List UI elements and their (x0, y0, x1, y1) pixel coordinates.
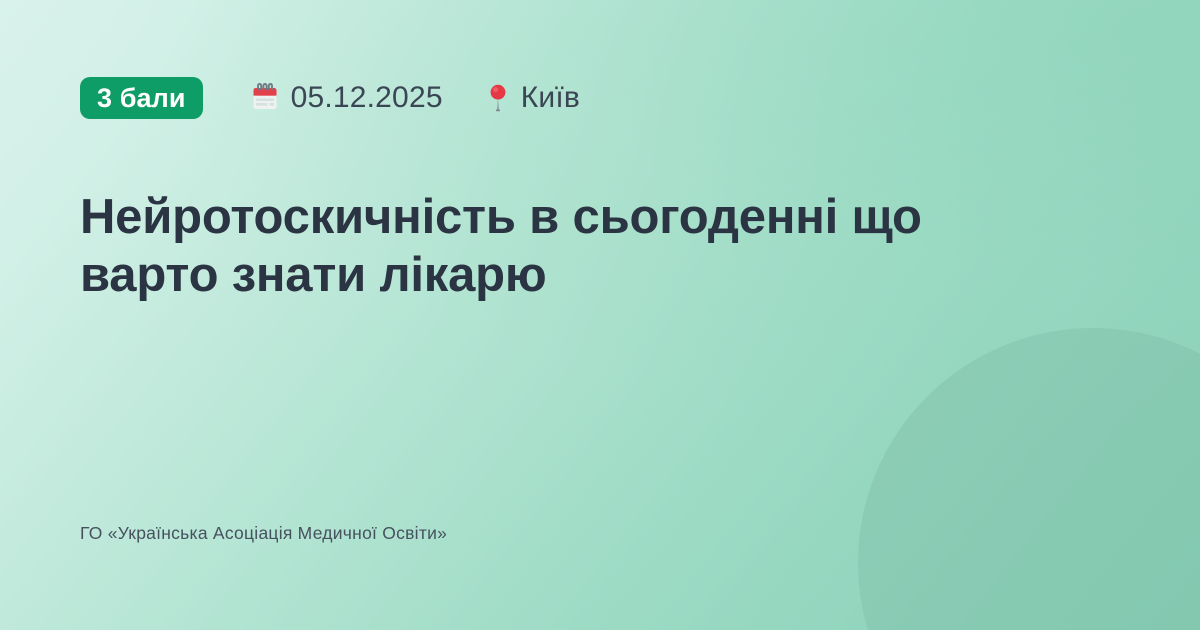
points-badge[interactable]: 3 бали (80, 77, 203, 119)
event-date-value: 05.12.2025 (291, 81, 443, 115)
event-date: 05.12.2025 (251, 81, 443, 115)
map-pin-icon (489, 83, 507, 113)
calendar-icon (251, 83, 279, 113)
page-title: Нейротоскичність в сьогоденні що варто з… (80, 188, 1090, 305)
content-spacer (80, 337, 1120, 523)
organization-name: ГО «Українська Асоціація Медичної Освіти… (80, 523, 1120, 544)
event-location: Київ (489, 81, 580, 115)
event-location-value: Київ (521, 81, 580, 115)
event-card: 3 бали (0, 0, 1200, 630)
page-title-line-1: Нейротоскичність в сьогоденні що (80, 188, 1090, 246)
meta-row: 3 бали (80, 76, 1120, 120)
card-content: 3 бали (0, 0, 1200, 630)
page-title-line-2: варто знати лікарю (80, 246, 1090, 304)
